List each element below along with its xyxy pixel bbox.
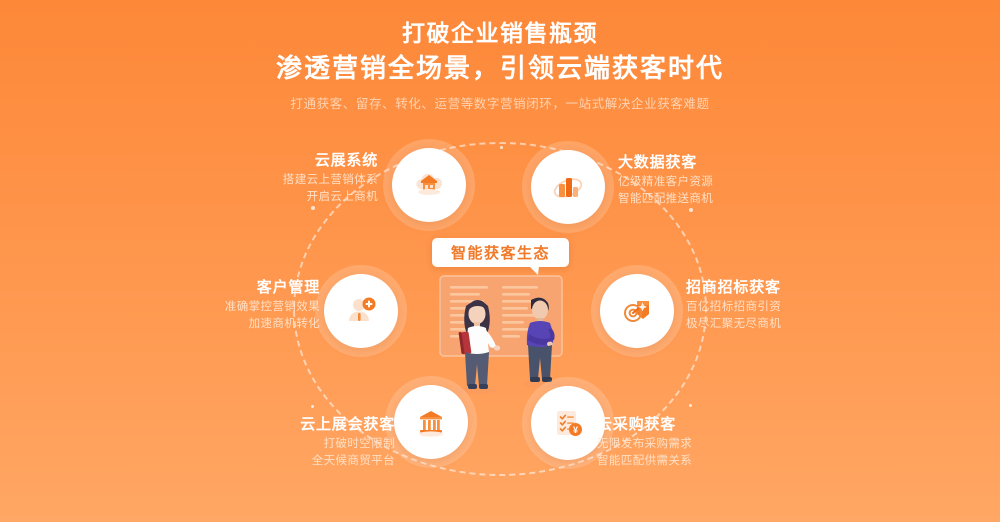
node-icon-disc[interactable] xyxy=(324,274,398,348)
node-desc-line1: 准确掌控营销效果 xyxy=(225,299,320,316)
node-desc-line1: 亿级精准客户资源 xyxy=(618,174,713,191)
decor-dot xyxy=(311,206,315,210)
node-desc-line1: 打破时空限制 xyxy=(300,436,395,453)
label-expo: 云上展会获客 打破时空限制 全天候商贸平台 xyxy=(300,414,395,470)
node-icon-disc[interactable] xyxy=(600,274,674,348)
label-bidding: 招商招标获客 百亿招标招商引资 极尽汇聚无尽商机 xyxy=(686,277,781,333)
decor-dot xyxy=(689,404,692,407)
node-icon-disc[interactable] xyxy=(531,150,605,224)
cloud-exhibition-icon xyxy=(409,165,449,205)
infographic-page: 打破企业销售瓶颈 渗透营销全场景，引领云端获客时代 打通获客、留存、转化、运营等… xyxy=(0,0,1000,522)
center-badge-label: 智能获客生态 xyxy=(451,242,550,263)
page-title-line1: 打破企业销售瓶颈 xyxy=(0,18,1000,48)
node-desc-line2: 加速商机转化 xyxy=(225,316,320,333)
node-bidding[interactable] xyxy=(600,274,674,348)
node-purchase[interactable]: ¥ xyxy=(531,386,605,460)
decor-dot xyxy=(311,405,314,408)
bar-chart-orbit-icon xyxy=(548,167,588,207)
node-icon-disc[interactable]: ¥ xyxy=(531,386,605,460)
page-header: 打破企业销售瓶颈 渗透营销全场景，引领云端获客时代 打通获客、留存、转化、运营等… xyxy=(0,18,1000,114)
label-customer: 客户管理 准确掌控营销效果 加速商机转化 xyxy=(225,277,320,333)
decor-dot xyxy=(500,146,503,149)
node-desc-line2: 极尽汇聚无尽商机 xyxy=(686,316,781,333)
node-title: 大数据获客 xyxy=(618,152,713,174)
pavilion-building-icon xyxy=(411,402,451,442)
node-icon-disc[interactable] xyxy=(394,385,468,459)
user-add-icon xyxy=(341,291,381,331)
page-subtitle: 打通获客、留存、转化、运营等数字营销闭环，一站式解决企业获客难题 xyxy=(0,94,1000,114)
target-bid-icon xyxy=(617,291,657,331)
node-desc-line1: 无限发布采购需求 xyxy=(597,436,692,453)
svg-text:¥: ¥ xyxy=(573,425,578,435)
node-desc-line1: 搭建云上营销体系 xyxy=(283,172,378,189)
node-title: 客户管理 xyxy=(225,277,320,299)
node-bigdata[interactable] xyxy=(531,150,605,224)
node-title: 云上展会获客 xyxy=(300,414,395,436)
decor-dot xyxy=(689,208,693,212)
label-yunzhan: 云展系统 搭建云上营销体系 开启云上商机 xyxy=(283,150,378,206)
node-yunzhan[interactable] xyxy=(392,148,466,222)
center-badge: 智能获客生态 xyxy=(432,238,569,267)
node-desc-line2: 智能匹配供需关系 xyxy=(597,453,692,470)
node-desc-line2: 智能匹配推送商机 xyxy=(618,191,713,208)
node-desc-line1: 百亿招标招商引资 xyxy=(686,299,781,316)
page-title-line2: 渗透营销全场景，引领云端获客时代 xyxy=(0,50,1000,86)
node-customer[interactable] xyxy=(324,274,398,348)
checklist-yuan-icon: ¥ xyxy=(548,403,588,443)
node-expo[interactable] xyxy=(394,385,468,459)
label-purchase: 云采购获客 无限发布采购需求 智能匹配供需关系 xyxy=(597,414,692,470)
node-title: 招商招标获客 xyxy=(686,277,781,299)
node-icon-disc[interactable] xyxy=(392,148,466,222)
node-title: 云采购获客 xyxy=(597,414,692,436)
node-title: 云展系统 xyxy=(283,150,378,172)
node-desc-line2: 开启云上商机 xyxy=(283,189,378,206)
label-bigdata: 大数据获客 亿级精准客户资源 智能匹配推送商机 xyxy=(618,152,713,208)
node-desc-line2: 全天候商贸平台 xyxy=(300,453,395,470)
